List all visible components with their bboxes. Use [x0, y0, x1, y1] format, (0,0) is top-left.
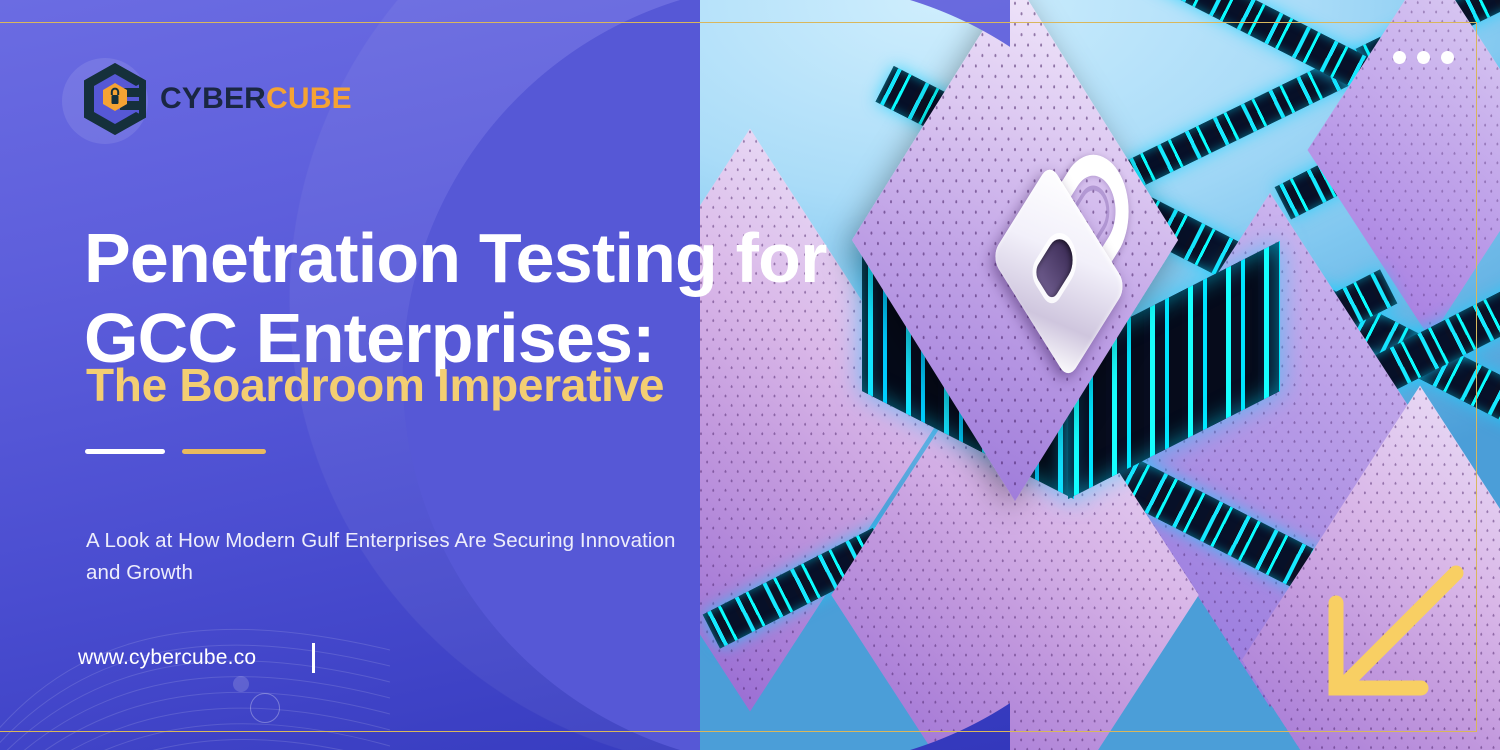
dot	[1441, 51, 1454, 64]
page-title: Penetration Testing for GCC Enterprises:	[84, 219, 904, 379]
tagline: A Look at How Modern Gulf Enterprises Ar…	[86, 525, 686, 591]
cyber-cube-hex-lock-logo-icon	[80, 62, 150, 136]
subheadline: The Boardroom Imperative	[86, 362, 664, 408]
ring-decor	[250, 693, 280, 723]
divider-gold	[182, 449, 266, 454]
brand-name: CYBERCUBE	[160, 84, 352, 114]
arrow-down-left-icon	[1318, 558, 1468, 708]
dot	[1417, 51, 1430, 64]
banner-canvas: CYBERCUBE Penetration Testing for GCC En…	[0, 0, 1500, 750]
divider-group	[85, 449, 266, 454]
wave-lines-decor	[0, 480, 390, 750]
brand-name-part2: CUBE	[266, 82, 352, 115]
headline-line-1: Penetration Testing for	[84, 219, 827, 297]
website-url[interactable]: www.cybercube.co	[78, 646, 256, 670]
footer-separator	[312, 643, 315, 673]
dot-decor	[233, 676, 249, 692]
brand-name-part1: CYBER	[160, 82, 266, 115]
three-dots-icon	[1393, 51, 1454, 64]
divider-white	[85, 449, 165, 454]
dot	[1393, 51, 1406, 64]
footer-website[interactable]: www.cybercube.co	[78, 643, 315, 673]
brand-logo[interactable]: CYBERCUBE	[80, 62, 352, 136]
